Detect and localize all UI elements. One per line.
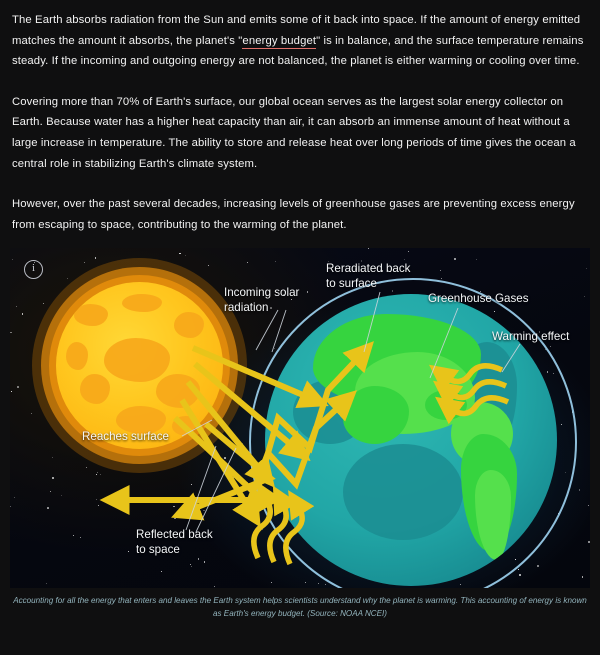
- article-body: The Earth absorbs radiation from the Sun…: [0, 0, 600, 235]
- leader-warming: [502, 344, 520, 372]
- leader-greenhouse: [430, 308, 458, 378]
- paragraph-2: Covering more than 70% of Earth's surfac…: [12, 92, 588, 174]
- leader-reradiated: [364, 292, 380, 352]
- solar-ray-1: [193, 348, 310, 398]
- earth-energy-budget-figure: i: [10, 248, 590, 588]
- warming-wave-3: [450, 398, 508, 414]
- label-reflected-back-to-space: Reflected backto space: [136, 528, 256, 557]
- paragraph-3: However, over the past several decades, …: [12, 194, 588, 235]
- paragraph-1: The Earth absorbs radiation from the Sun…: [12, 10, 588, 72]
- energy-budget-link[interactable]: energy budget: [242, 35, 316, 49]
- warming-wave-1: [444, 366, 502, 382]
- info-icon[interactable]: i: [24, 260, 43, 279]
- figure-caption: Accounting for all the energy that enter…: [12, 594, 588, 620]
- reradiated-zigzag-upper: [258, 356, 360, 488]
- label-reaches-surface: Reaches surface: [82, 430, 202, 445]
- label-greenhouse-gases: Greenhouse Gases: [428, 292, 568, 307]
- label-warming-effect: Warming effect: [492, 330, 590, 345]
- label-reradiated-back-to-surface: Reradiated backto surface: [326, 262, 446, 291]
